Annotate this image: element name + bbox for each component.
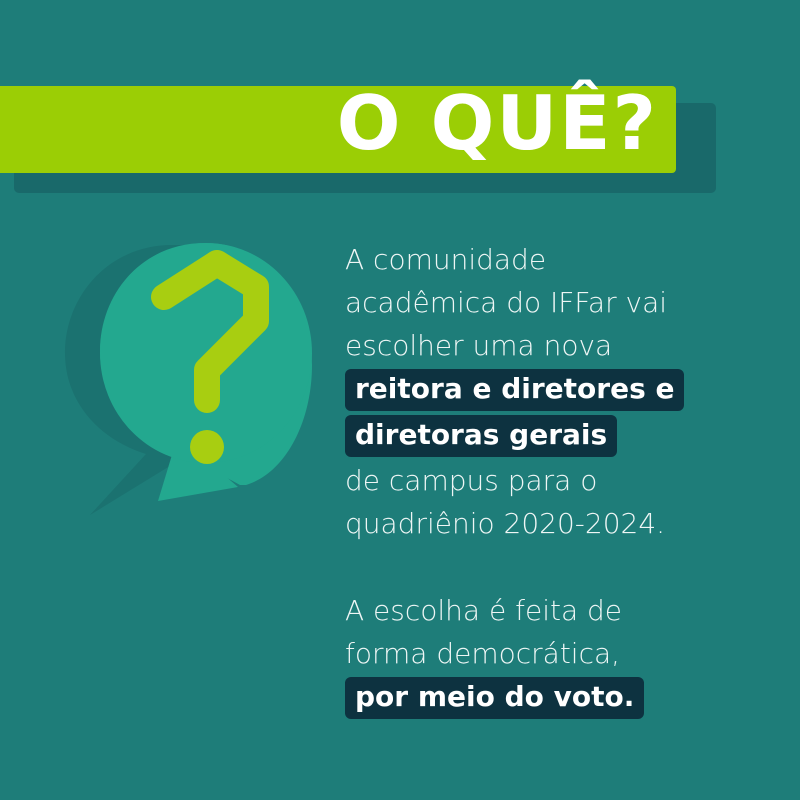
speech-bubble-graphic xyxy=(60,225,340,525)
poster-canvas: O QUÊ? A comunidade acadêmica xyxy=(0,0,800,800)
copy-line: quadriênio 2020-2024. xyxy=(345,502,765,545)
copy-line: de campus para o xyxy=(345,459,765,502)
copy-line-highlighted: reitora e diretores e xyxy=(345,369,684,411)
speech-bubble-question-icon xyxy=(60,225,340,525)
copy-line: forma democrática, xyxy=(345,632,765,675)
paragraph-2: A escolha é feita de forma democrática, … xyxy=(345,589,765,721)
copy-line-highlighted: por meio do voto. xyxy=(345,677,644,719)
paragraph-1: A comunidade acadêmica do IFFar vai esco… xyxy=(345,238,765,545)
copy-line: escolher uma nova xyxy=(345,324,765,367)
copy-line: acadêmica do IFFar vai xyxy=(345,281,765,324)
page-title: O QUÊ? xyxy=(0,68,676,178)
copy-line: A escolha é feita de xyxy=(345,589,765,632)
copy-line: A comunidade xyxy=(345,238,765,281)
body-copy: A comunidade acadêmica do IFFar vai esco… xyxy=(345,238,765,721)
copy-line-highlighted: diretoras gerais xyxy=(345,415,617,457)
question-mark-dot xyxy=(190,430,224,464)
